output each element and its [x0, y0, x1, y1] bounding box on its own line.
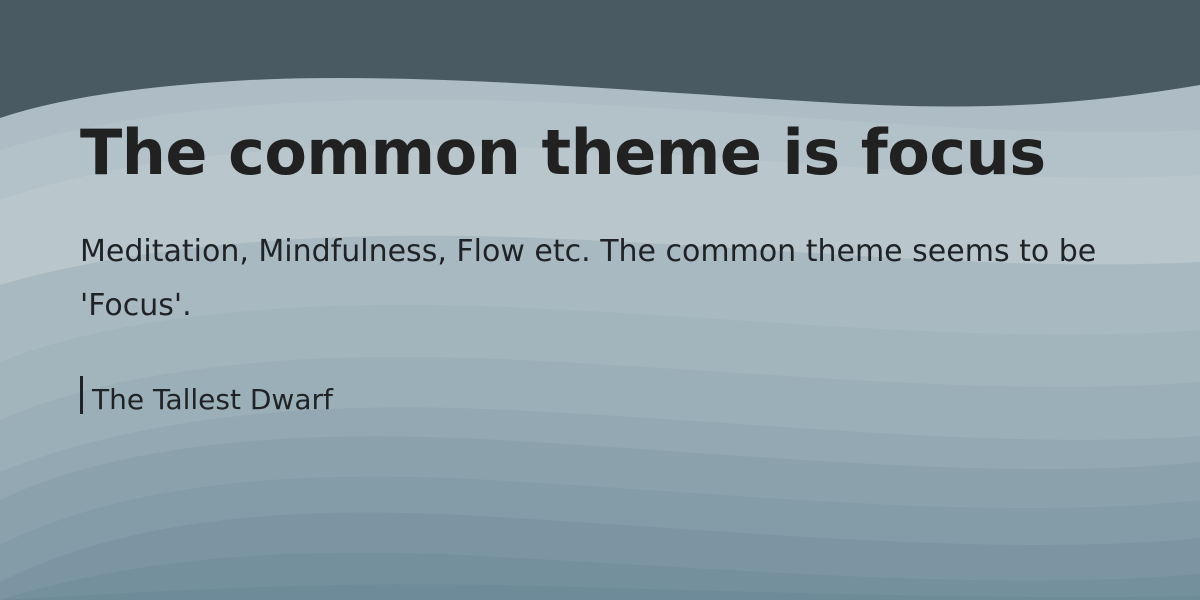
quote-card: The common theme is focus Meditation, Mi… [0, 0, 1200, 600]
page-title: The common theme is focus [80, 118, 1120, 187]
attribution: The Tallest Dwarf [80, 371, 333, 414]
vertical-bar-icon [80, 376, 83, 414]
quote-content: The common theme is focus Meditation, Mi… [0, 0, 1200, 600]
quote-body-text: Meditation, Mindfulness, Flow etc. The c… [80, 225, 1125, 333]
attribution-author: The Tallest Dwarf [92, 386, 333, 414]
